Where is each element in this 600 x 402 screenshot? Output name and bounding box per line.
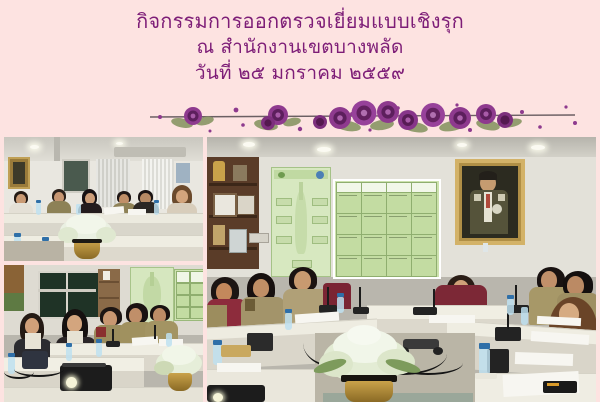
door-rail: [38, 289, 96, 292]
document: [515, 352, 573, 366]
flower-pot-rim: [72, 239, 102, 243]
bottle-cap: [8, 353, 15, 357]
door-divider: [66, 271, 68, 315]
portrait-epaulette: [474, 194, 481, 201]
royal-portrait-canvas: [462, 166, 518, 238]
flower-pot: [168, 373, 192, 391]
projector-lens: [66, 377, 77, 388]
bottle-cap: [96, 339, 102, 343]
chart-node: [276, 198, 292, 206]
photo-right-main-scene: [207, 137, 596, 402]
green-chart-board: [333, 179, 441, 279]
water-bottle: [285, 313, 292, 330]
microphone-base: [106, 341, 120, 347]
bottle-cap: [66, 343, 72, 347]
ceiling-light: [30, 145, 39, 149]
water-bottle: [479, 349, 490, 375]
floral-divider: [0, 96, 600, 138]
microphone-stem: [433, 289, 435, 309]
microphone-stem: [327, 287, 329, 307]
shirt-collar: [25, 333, 41, 349]
document: [429, 315, 475, 323]
collage-right-column: [207, 137, 596, 402]
plant: [4, 293, 24, 311]
emblem-poster: [271, 167, 331, 277]
flower-pot: [345, 381, 393, 402]
microphone-base: [487, 349, 509, 373]
title-line-2: ณ สำนักงานเขตบางพลัด: [0, 34, 600, 60]
photo-collage: [4, 137, 596, 402]
floor-area: [4, 241, 64, 261]
trophy: [213, 161, 225, 181]
microphone-base: [353, 307, 369, 314]
portrait-medal: [492, 204, 502, 214]
portrait-epaulette: [498, 194, 505, 201]
wall-picture-canvas: [13, 162, 25, 184]
chart-node: [312, 216, 328, 224]
water-bottle: [154, 203, 159, 215]
microphone-stem: [359, 287, 361, 309]
shelf-item: [213, 225, 225, 245]
air-conditioner-duct: [114, 147, 186, 157]
framed-photo: [237, 195, 255, 215]
ceiling-light: [457, 143, 467, 147]
light-switch: [249, 233, 269, 243]
water-bottle: [521, 307, 528, 325]
microphone-stem: [507, 313, 509, 329]
microphone-base: [495, 327, 521, 341]
projector-cable: [4, 365, 34, 379]
portrait-hair: [479, 171, 497, 180]
green-chart-board: [174, 269, 203, 321]
framed-photo: [213, 193, 237, 217]
title-line-3: วันที่ ๒๕ มกราคม ๒๕๕๙: [0, 60, 600, 86]
projector-top: [62, 363, 106, 367]
shelf-row: [209, 183, 257, 186]
water-bottle: [66, 347, 72, 361]
photo-bottom-left-scene: [4, 265, 203, 402]
ceiling-light: [317, 147, 331, 152]
water-bottle: [36, 203, 41, 215]
remote-control-buttons: [547, 383, 559, 386]
emblem-spire: [150, 272, 154, 286]
shelf-item: [103, 271, 110, 280]
uniform-sash: [96, 327, 106, 337]
shelf-item: [233, 165, 247, 181]
ceiling-beam: [54, 137, 60, 163]
chart-node: [312, 198, 328, 206]
microphone-base: [413, 307, 437, 315]
wall-control-panel: [229, 229, 247, 253]
poster-canvas: กิจกรรมการออกตรวจเยี่ยมแบบเชิงรุก ณ สำนั…: [0, 0, 600, 402]
wooden-box: [221, 345, 251, 357]
photo-top-left: [4, 137, 203, 261]
microphone-stem: [154, 325, 156, 339]
emblem-spire: [299, 182, 303, 200]
floral-divider-art: [0, 96, 600, 138]
water-bottle: [507, 299, 514, 315]
microphone-stem: [515, 285, 517, 307]
bottle-cap: [507, 295, 514, 299]
collage-left-column: [4, 137, 203, 402]
drinking-glass: [483, 243, 488, 252]
document: [128, 209, 146, 215]
bottle-cap: [36, 200, 41, 203]
water-bottle: [96, 343, 102, 357]
royal-portrait-frame: [455, 159, 525, 245]
door-panel: [62, 159, 90, 193]
flower-pot: [74, 241, 100, 259]
ceiling-light: [116, 142, 123, 145]
bottle-cap: [14, 233, 21, 237]
portrait-tie: [486, 194, 490, 208]
shelf-row: [99, 281, 119, 283]
bottle-cap: [337, 293, 344, 297]
wall-picture-frame: [8, 157, 30, 189]
uniform-insignia: [245, 299, 255, 311]
bottle-cap: [154, 200, 159, 203]
document: [217, 363, 261, 372]
poster-title-block: กิจกรรมการออกตรวจเยี่ยมแบบเชิงรุก ณ สำนั…: [0, 8, 600, 86]
chart-node: [276, 236, 292, 244]
photo-bottom-left: [4, 265, 203, 402]
bottle-coaster: [475, 373, 497, 379]
shelf-row: [99, 297, 119, 299]
projector-lens: [213, 393, 223, 402]
photo-top-left-scene: [4, 137, 203, 261]
photo-right-main: [207, 137, 596, 402]
window-glass: [176, 163, 190, 183]
chair-wheel: [433, 347, 443, 355]
poster-logo: [278, 172, 285, 178]
chart-node: [312, 236, 328, 244]
bottle-cap: [479, 343, 490, 349]
bottle-cap: [213, 340, 222, 345]
ceiling-light: [531, 145, 545, 150]
title-line-1: กิจกรรมการออกตรวจเยี่ยมแบบเชิงรุก: [0, 8, 600, 34]
ceiling-light: [243, 142, 255, 147]
poster-logo: [316, 171, 324, 179]
bottle-cap: [285, 309, 292, 313]
chart-node: [276, 216, 292, 224]
